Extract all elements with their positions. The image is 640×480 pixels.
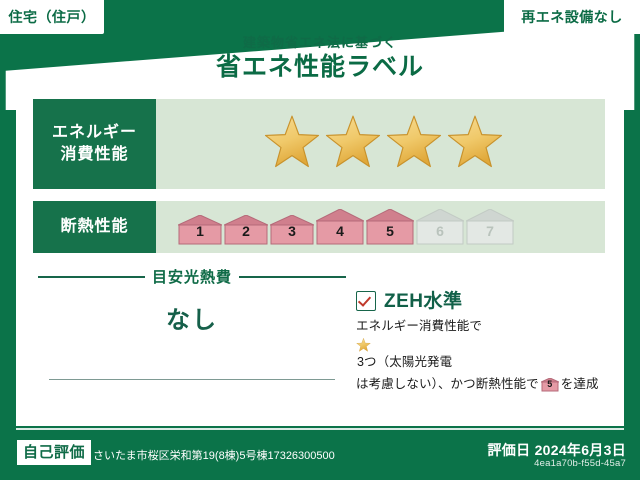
house-level-5: 5 — [541, 378, 559, 392]
property-address: さいたま市桜区栄和第19(8棟)5号棟17326300500 — [93, 447, 335, 463]
house-level-2: 2 — [224, 215, 268, 245]
evaluation-uid: 4ea1a70b-f55d-45a7 — [534, 458, 626, 469]
rule-right — [239, 276, 346, 278]
star-icon — [356, 338, 371, 353]
checkmark-icon — [356, 291, 376, 311]
chip-renewable-energy: 再エネ設備なし — [504, 0, 640, 34]
utility-cost-heading: 目安光熱費 — [38, 266, 346, 287]
star-icon — [263, 115, 321, 173]
house-icon — [541, 378, 559, 392]
evaluation-date: 評価日 2024年6月3日 — [487, 440, 626, 460]
energy-performance-label-line1: エネルギー — [52, 122, 137, 144]
house-icon — [416, 209, 464, 245]
footer-divider — [16, 428, 624, 430]
house-icon — [466, 209, 514, 245]
zeh-description-stars: 3つ（太陽光発電 — [357, 355, 452, 369]
house-level-1: 1 — [178, 215, 222, 245]
star-icon — [446, 115, 504, 173]
insulation-performance-rating: 1234567 — [156, 201, 605, 253]
house-level-5: 5 — [366, 209, 414, 245]
label-card: エネルギー 消費性能 断熱性能 1234567 目安光熱費 なし — [16, 88, 624, 426]
house-icon — [178, 215, 222, 245]
chip-building-type-label: 住宅（住戸） — [9, 10, 96, 24]
house-rating-scale: 1234567 — [178, 209, 514, 245]
house-icon — [270, 215, 314, 245]
star-icon — [324, 115, 382, 173]
star-icon — [356, 338, 622, 353]
house-level-7: 7 — [466, 209, 514, 245]
utility-cost-heading-text: 目安光熱費 — [152, 266, 232, 287]
insulation-performance-row: 断熱性能 1234567 — [33, 201, 605, 253]
zeh-title: ZEH水準 — [384, 292, 463, 311]
house-level-4: 4 — [316, 209, 364, 245]
star-icon — [385, 115, 443, 173]
utility-cost-bottom-divider — [49, 379, 335, 380]
chip-renewable-energy-label: 再エネ設備なし — [521, 10, 623, 24]
house-icon — [316, 209, 364, 245]
energy-performance-label: エネルギー 消費性能 — [33, 99, 156, 189]
star-rating — [263, 115, 504, 173]
insulation-performance-label-text: 断熱性能 — [60, 216, 128, 238]
chip-building-type: 住宅（住戸） — [0, 0, 104, 34]
house-badge-icon: 5 — [541, 378, 559, 392]
energy-performance-row: エネルギー 消費性能 — [33, 99, 605, 189]
zeh-description-part2: は考慮しない）、かつ断熱性能で — [356, 377, 539, 391]
energy-performance-label-line2: 消費性能 — [60, 144, 128, 166]
zeh-heading: ZEH水準 — [356, 291, 622, 311]
energy-performance-label: 住宅（住戸） 再エネ設備なし 建築物省エネ法に基づく 省エネ性能ラベル エネルギ… — [0, 0, 640, 480]
zeh-description: エネルギー消費性能で3つ（太陽光発電は考慮しない）、かつ断熱性能で5を達成 — [356, 317, 622, 394]
insulation-performance-label: 断熱性能 — [33, 201, 156, 253]
energy-performance-rating — [156, 99, 605, 189]
label-footer: 自己評価 さいたま市桜区栄和第19(8棟)5号棟17326300500 評価日 … — [0, 432, 640, 480]
house-icon — [366, 209, 414, 245]
zeh-block: ZEH水準 エネルギー消費性能で3つ（太陽光発電は考慮しない）、かつ断熱性能で5… — [356, 291, 622, 394]
utility-cost-value: なし — [38, 300, 346, 335]
zeh-description-part3: を達成 — [561, 377, 599, 391]
rule-left — [38, 276, 145, 278]
house-level-6: 6 — [416, 209, 464, 245]
self-evaluation-badge: 自己評価 — [17, 440, 91, 465]
house-level-3: 3 — [270, 215, 314, 245]
zeh-description-part1: エネルギー消費性能で — [356, 319, 482, 333]
house-icon — [224, 215, 268, 245]
